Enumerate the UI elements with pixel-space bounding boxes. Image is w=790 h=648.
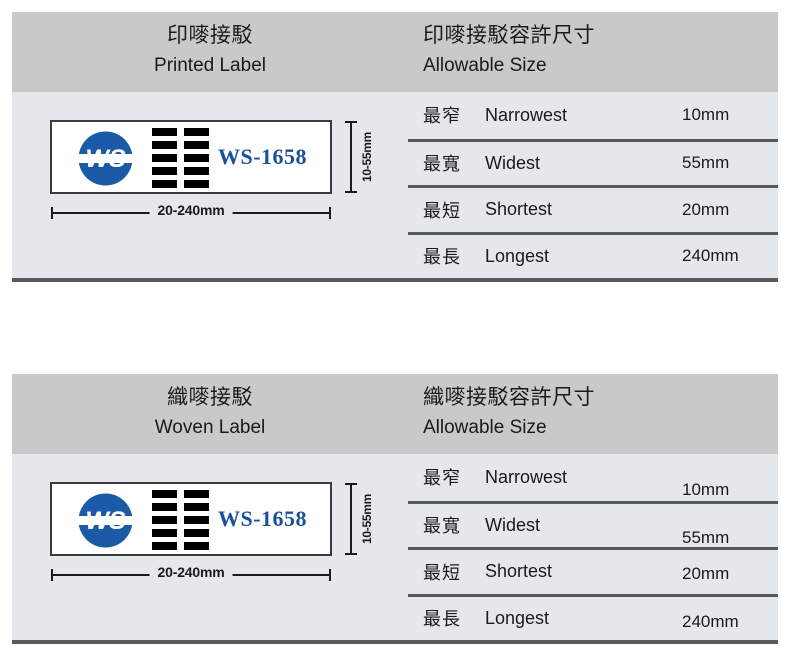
allowable-size-table-woven: 最窄 Narrowest 10mm 最寬 Widest 55mm 最短 Shor… xyxy=(408,454,778,640)
section-body-woven: WS WS-1658 20-2 xyxy=(12,454,778,644)
dimension-cap-top xyxy=(345,121,357,123)
section-header-printed: 印嘜接駁 Printed Label 印嘜接駁容許尺寸 Allowable Si… xyxy=(12,12,778,92)
spec-label-cn: 最寬 xyxy=(423,150,485,176)
dimension-cap-top xyxy=(345,483,357,485)
header-subtitle-cn: 織嘜接駁容許尺寸 xyxy=(423,386,595,410)
header-subtitle-en: Allowable Size xyxy=(423,417,547,439)
header-column-label-type: 織嘜接駁 Woven Label xyxy=(12,374,408,454)
table-row: 最短 Shortest 20mm xyxy=(408,185,778,232)
spec-value: 20mm xyxy=(682,564,778,584)
svg-text:WS: WS xyxy=(85,145,126,173)
spec-value: 10mm xyxy=(682,480,778,500)
height-dimension-line: 10-55mm xyxy=(342,482,388,556)
barcode-blocks-icon xyxy=(152,490,212,552)
spec-value: 55mm xyxy=(682,528,778,548)
header-column-allowable-size: 織嘜接駁容許尺寸 Allowable Size xyxy=(408,374,778,454)
spec-value: 10mm xyxy=(682,105,778,125)
dimension-cap-right xyxy=(329,207,331,219)
dimension-cap-left xyxy=(51,569,53,581)
header-subtitle-cn: 印嘜接駁容許尺寸 xyxy=(423,24,595,48)
svg-text:WS: WS xyxy=(85,507,126,535)
table-row: 最窄 Narrowest 10mm xyxy=(408,92,778,139)
label-artwork-woven: WS WS-1658 20-2 xyxy=(12,454,408,640)
ws-logo-icon: WS xyxy=(76,129,135,188)
table-row: 最長 Longest 240mm xyxy=(408,594,778,641)
spec-label-cn: 最短 xyxy=(423,197,485,223)
header-title-cn: 織嘜接駁 xyxy=(12,386,408,410)
dimension-cap-right xyxy=(329,569,331,581)
spec-label-en: Narrowest xyxy=(485,105,682,126)
spec-label-en: Narrowest xyxy=(485,467,682,488)
spec-label-en: Shortest xyxy=(485,561,682,582)
header-column-allowable-size: 印嘜接駁容許尺寸 Allowable Size xyxy=(408,12,778,92)
spec-label-cn: 最長 xyxy=(423,605,485,631)
section-body-printed: WS WS-1658 20-2 xyxy=(12,92,778,282)
spec-label-en: Longest xyxy=(485,608,682,629)
section-printed-label: 印嘜接駁 Printed Label 印嘜接駁容許尺寸 Allowable Si… xyxy=(12,12,778,282)
table-row: 最短 Shortest 20mm xyxy=(408,547,778,594)
header-title-en: Woven Label xyxy=(12,417,408,439)
dimension-rule xyxy=(350,484,352,554)
height-dimension-label: 10-55mm xyxy=(358,482,376,556)
width-dimension-label: 20-240mm xyxy=(150,564,233,580)
label-artwork-printed: WS WS-1658 20-2 xyxy=(12,92,408,278)
spec-label-en: Longest xyxy=(485,246,682,267)
table-row: 最長 Longest 240mm xyxy=(408,232,778,279)
dimension-cap-left xyxy=(51,207,53,219)
width-dimension-label: 20-240mm xyxy=(150,202,233,218)
spec-label-cn: 最窄 xyxy=(423,102,485,128)
spec-value: 240mm xyxy=(682,612,778,632)
spec-label-cn: 最窄 xyxy=(423,464,485,490)
label-code-text: WS-1658 xyxy=(218,506,307,532)
table-row: 最窄 Narrowest 10mm xyxy=(408,454,778,501)
spec-label-en: Shortest xyxy=(485,199,682,220)
spec-label-cn: 最長 xyxy=(423,243,485,269)
dimension-cap-bottom xyxy=(345,191,357,193)
spec-label-en: Widest xyxy=(485,515,682,536)
barcode-blocks-icon xyxy=(152,128,212,190)
header-title-en: Printed Label xyxy=(12,55,408,77)
spec-label-en: Widest xyxy=(485,153,682,174)
header-title-cn: 印嘜接駁 xyxy=(12,24,408,48)
table-row: 最寬 Widest 55mm xyxy=(408,501,778,548)
spec-value: 55mm xyxy=(682,153,778,173)
height-dimension-text: 10-55mm xyxy=(360,494,374,544)
width-dimension-line: 20-240mm xyxy=(50,204,332,222)
header-column-label-type: 印嘜接駁 Printed Label xyxy=(12,12,408,92)
label-sample-graphic: WS WS-1658 xyxy=(50,120,332,194)
section-woven-label: 織嘜接駁 Woven Label 織嘜接駁容許尺寸 Allowable Size… xyxy=(12,374,778,644)
spec-value: 20mm xyxy=(682,200,778,220)
allowable-size-table-printed: 最窄 Narrowest 10mm 最寬 Widest 55mm 最短 Shor… xyxy=(408,92,778,278)
dimension-cap-bottom xyxy=(345,553,357,555)
ws-logo-icon: WS xyxy=(76,491,135,550)
width-dimension-line: 20-240mm xyxy=(50,566,332,584)
label-code-text: WS-1658 xyxy=(218,144,307,170)
table-row: 最寬 Widest 55mm xyxy=(408,139,778,186)
spec-value: 240mm xyxy=(682,246,778,266)
header-subtitle-en: Allowable Size xyxy=(423,55,547,77)
label-sample-graphic: WS WS-1658 xyxy=(50,482,332,556)
spec-sheet-page: 印嘜接駁 Printed Label 印嘜接駁容許尺寸 Allowable Si… xyxy=(0,0,790,648)
height-dimension-text: 10-55mm xyxy=(360,132,374,182)
height-dimension-label: 10-55mm xyxy=(358,120,376,194)
section-header-woven: 織嘜接駁 Woven Label 織嘜接駁容許尺寸 Allowable Size xyxy=(12,374,778,454)
height-dimension-line: 10-55mm xyxy=(342,120,388,194)
dimension-rule xyxy=(350,122,352,192)
spec-label-cn: 最寬 xyxy=(423,512,485,538)
spec-label-cn: 最短 xyxy=(423,559,485,585)
